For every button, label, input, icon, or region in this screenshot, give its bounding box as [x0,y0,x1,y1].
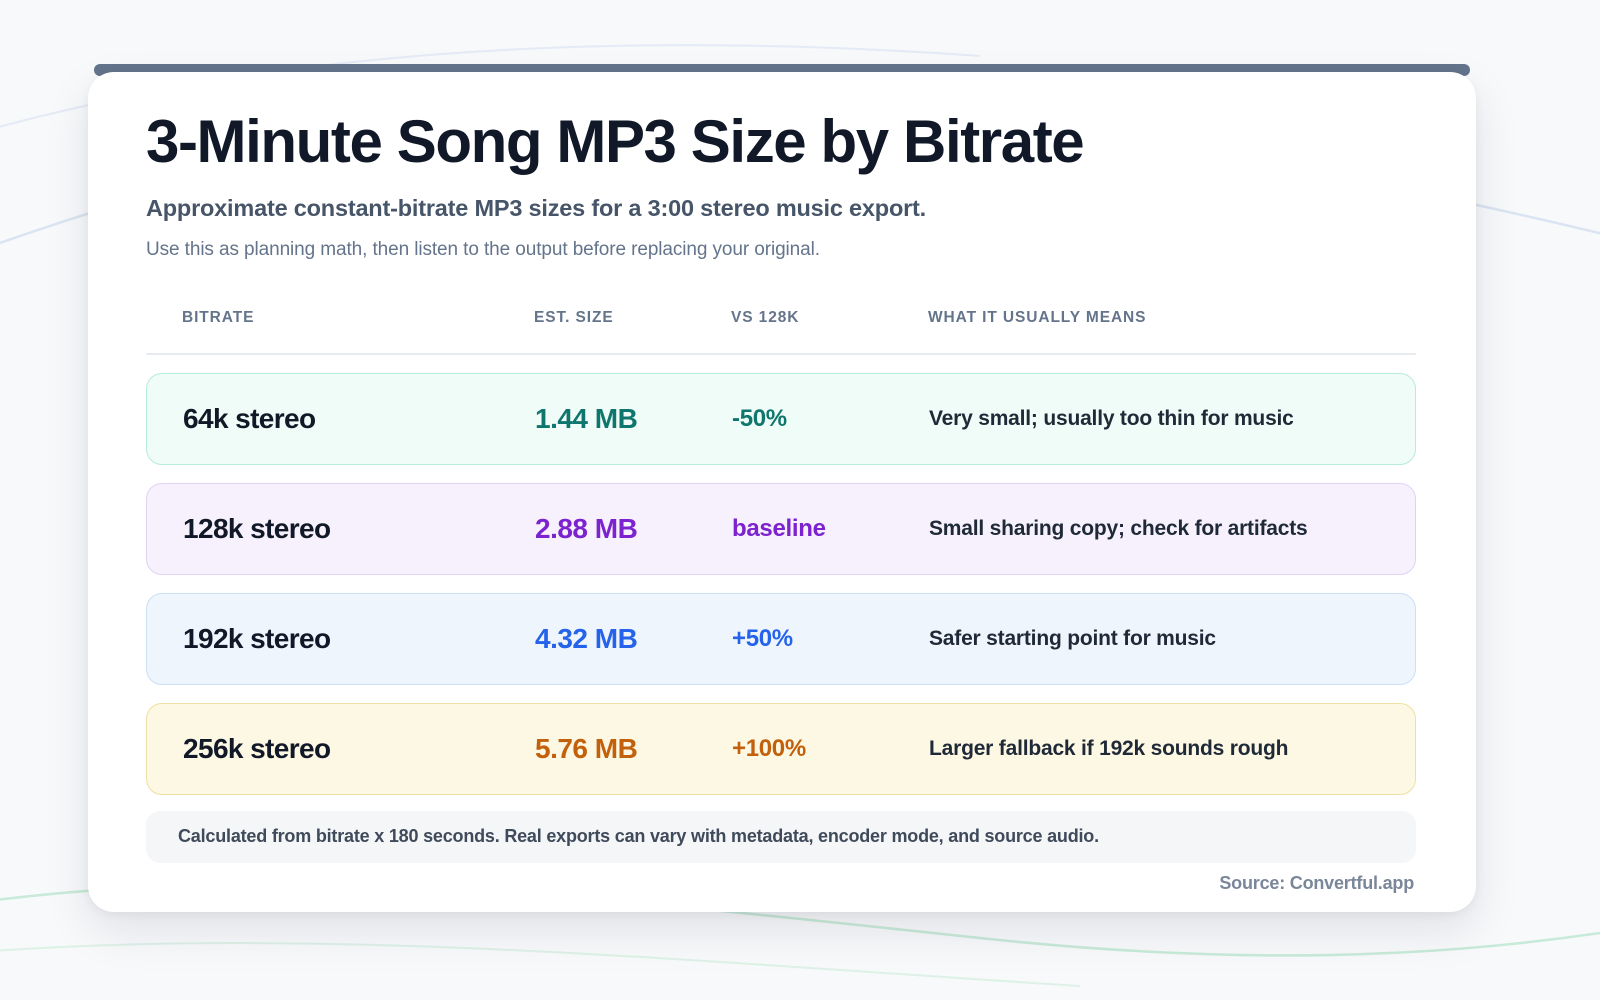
column-header-bitrate: BITRATE [182,309,534,327]
cell-est-size: 4.32 MB [535,623,732,655]
cell-meaning: Safer starting point for music [929,627,1415,651]
source-attribution: Source: Convertful.app [146,873,1416,894]
table-header-row: BITRATE EST. SIZE VS 128K WHAT IT USUALL… [146,305,1416,331]
cell-meaning: Small sharing copy; check for artifacts [929,517,1415,541]
column-header-meaning: WHAT IT USUALLY MEANS [928,309,1416,327]
cell-vs-128k: baseline [732,515,929,543]
cell-bitrate: 192k stereo [183,623,535,655]
bitrate-table: BITRATE EST. SIZE VS 128K WHAT IT USUALL… [146,305,1416,795]
infographic-card: 3-Minute Song MP3 Size by Bitrate Approx… [88,64,1476,912]
column-header-vs-128k: VS 128K [731,309,928,327]
cell-meaning: Very small; usually too thin for music [929,407,1415,431]
page-subtitle: Approximate constant-bitrate MP3 sizes f… [146,195,1416,222]
cell-est-size: 5.76 MB [535,733,732,765]
page-title: 3-Minute Song MP3 Size by Bitrate [146,110,1416,175]
cell-vs-128k: +50% [732,625,929,653]
page-note: Use this as planning math, then listen t… [146,239,1416,261]
cell-vs-128k: -50% [732,405,929,433]
cell-meaning: Larger fallback if 192k sounds rough [929,737,1415,761]
table-row[interactable]: 128k stereo 2.88 MB baseline Small shari… [146,483,1416,575]
footnote-text: Calculated from bitrate x 180 seconds. R… [178,826,1099,847]
column-header-est-size: EST. SIZE [534,309,731,327]
cell-bitrate: 64k stereo [183,403,535,435]
cell-bitrate: 128k stereo [183,513,535,545]
cell-est-size: 2.88 MB [535,513,732,545]
cell-bitrate: 256k stereo [183,733,535,765]
cell-vs-128k: +100% [732,735,929,763]
table-row[interactable]: 256k stereo 5.76 MB +100% Larger fallbac… [146,703,1416,795]
table-row[interactable]: 64k stereo 1.44 MB -50% Very small; usua… [146,373,1416,465]
header-divider [146,353,1416,355]
table-row[interactable]: 192k stereo 4.32 MB +50% Safer starting … [146,593,1416,685]
cell-est-size: 1.44 MB [535,403,732,435]
footnote-box: Calculated from bitrate x 180 seconds. R… [146,811,1416,863]
card-body: 3-Minute Song MP3 Size by Bitrate Approx… [88,72,1476,912]
